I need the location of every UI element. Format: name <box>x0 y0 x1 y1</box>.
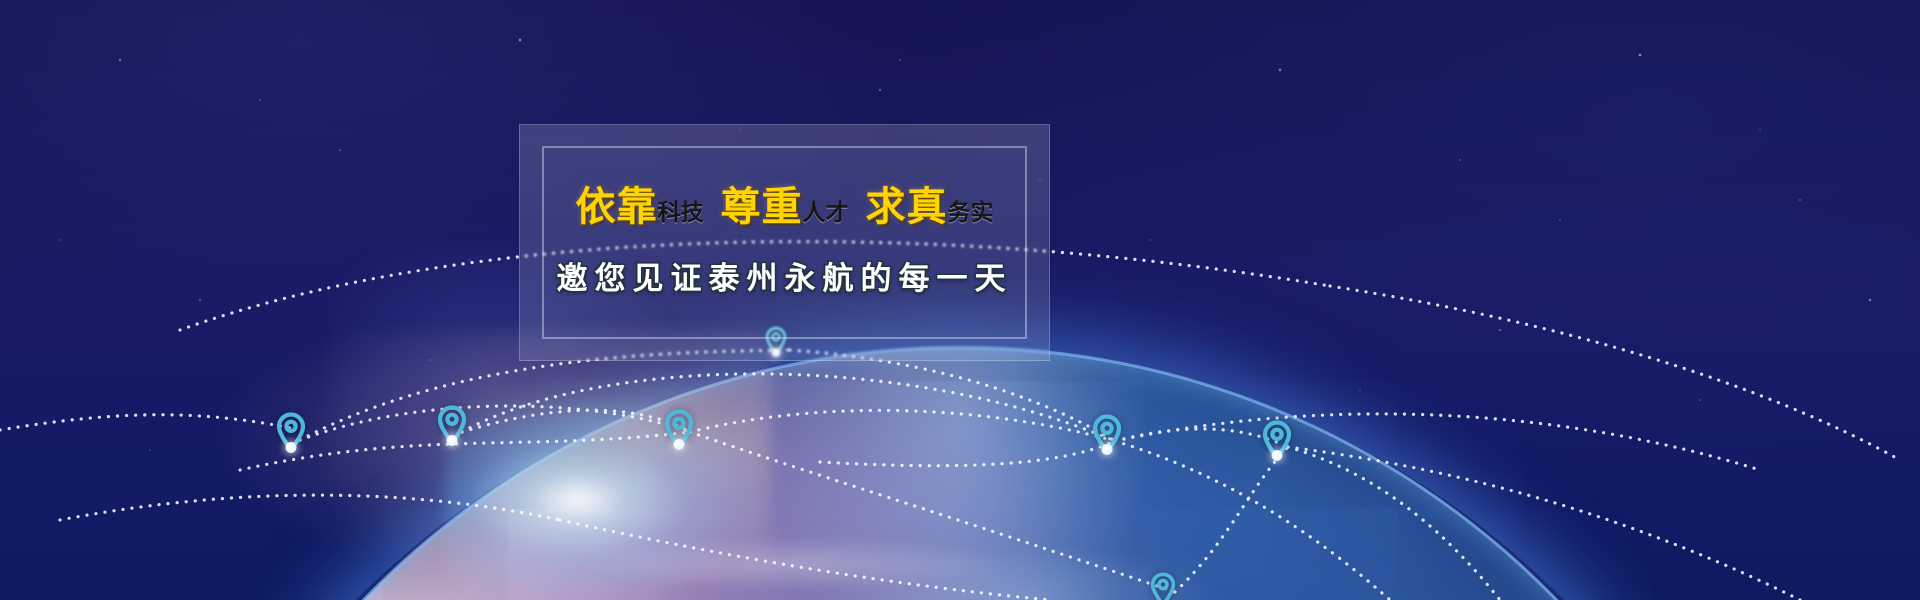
headline-segment-4: 人才 <box>803 201 849 224</box>
hero-banner: 依靠 科技 尊重 人才 求真 务实 邀您见证泰州永航的每一天 <box>0 0 1920 600</box>
slogan-headline: 依靠 科技 尊重 人才 求真 务实 <box>576 187 994 227</box>
headline-segment-1: 依靠 <box>576 187 658 227</box>
headline-segment-6: 务实 <box>948 201 994 224</box>
headline-segment-5: 求真 <box>866 187 948 227</box>
slogan-subline: 邀您见证泰州永航的每一天 <box>557 253 1013 298</box>
earth-limb-highlight <box>128 346 1792 600</box>
headline-segment-2: 科技 <box>658 201 704 224</box>
slogan-panel: 依靠 科技 尊重 人才 求真 务实 邀您见证泰州永航的每一天 <box>519 124 1050 361</box>
headline-segment-3: 尊重 <box>721 187 803 227</box>
earth-sphere <box>130 348 1790 600</box>
slogan-panel-content: 依靠 科技 尊重 人才 求真 务实 邀您见证泰州永航的每一天 <box>520 125 1049 360</box>
